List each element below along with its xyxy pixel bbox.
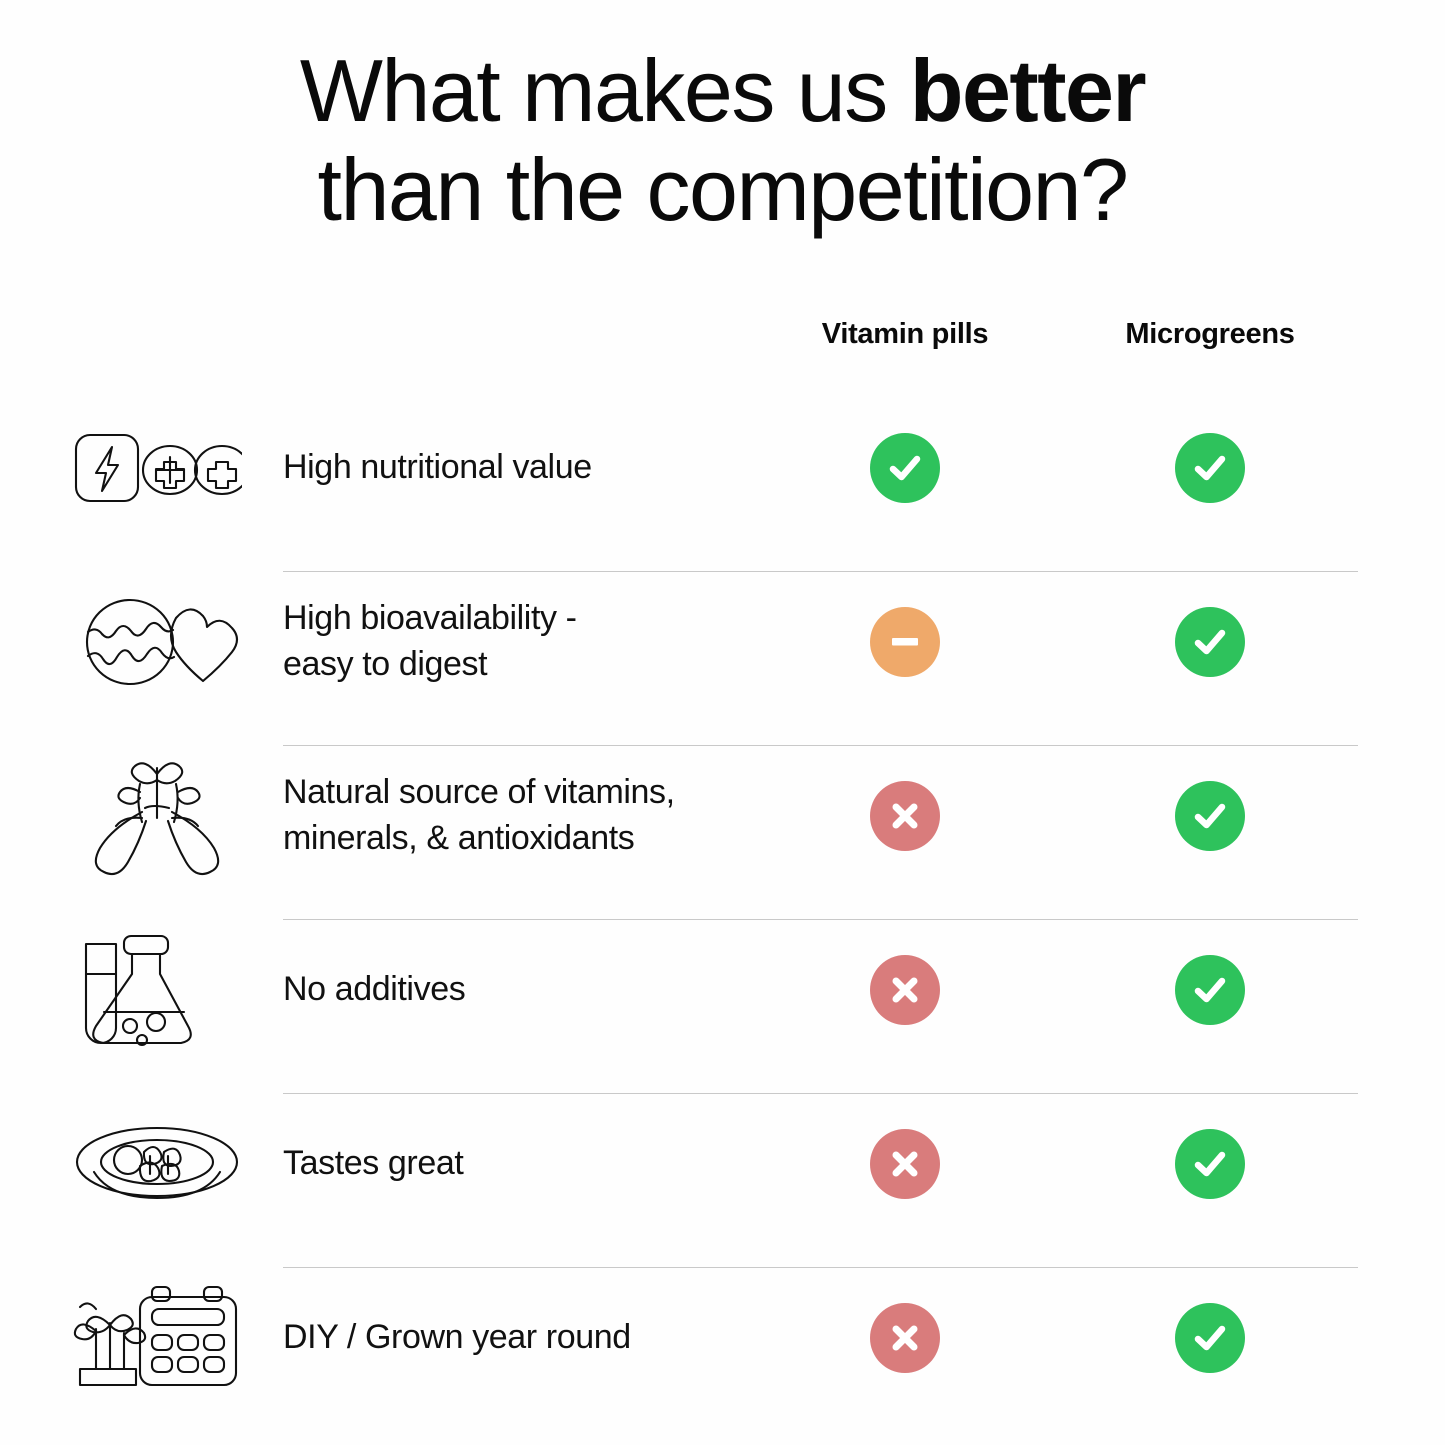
feature-label: Natural source of vitamins,minerals, & a…	[283, 746, 753, 886]
table-row: No additives	[0, 920, 1445, 1094]
check-mark-icon	[1175, 1303, 1245, 1373]
feature-label-text: DIY / Grown year round	[283, 1315, 631, 1361]
minus-mark-icon	[870, 607, 940, 677]
salad-plate-icon	[72, 1094, 252, 1234]
status-cell-vitamin_pills	[760, 746, 1050, 886]
table-row: Natural source of vitamins,minerals, & a…	[0, 746, 1445, 920]
page-title: What makes us better than the competitio…	[0, 42, 1445, 239]
status-cell-microgreens	[1060, 572, 1360, 712]
feature-label-line: Natural source of vitamins,	[283, 770, 675, 816]
sprouting-capsules-icon	[72, 746, 252, 886]
feature-label: High bioavailability -easy to digest	[283, 572, 753, 712]
table-row: High bioavailability -easy to digest	[0, 572, 1445, 746]
cross-mark-icon	[870, 1303, 940, 1373]
feature-label: DIY / Grown year round	[283, 1268, 753, 1408]
page-title-line-1: What makes us better	[0, 42, 1445, 141]
check-mark-icon	[1175, 955, 1245, 1025]
page-title-plain: What makes us	[300, 41, 910, 140]
feature-label-text: High nutritional value	[283, 445, 592, 491]
cross-mark-icon	[870, 1129, 940, 1199]
page-title-emphasis: better	[910, 41, 1146, 140]
feature-label-line: No additives	[283, 967, 465, 1013]
table-row-content: No additives	[0, 920, 1445, 1060]
status-cell-vitamin_pills	[760, 1268, 1050, 1408]
lightning-pills-icon	[72, 398, 252, 538]
feature-label-text: Natural source of vitamins,minerals, & a…	[283, 770, 675, 862]
comparison-chart-page: What makes us better than the competitio…	[0, 0, 1445, 1445]
table-row-content: DIY / Grown year round	[0, 1268, 1445, 1408]
status-cell-microgreens	[1060, 398, 1360, 538]
check-mark-icon	[1175, 607, 1245, 677]
sprouts-calendar-icon	[72, 1268, 252, 1408]
feature-label-line: Tastes great	[283, 1141, 463, 1187]
check-mark-icon	[870, 433, 940, 503]
cross-mark-icon	[870, 781, 940, 851]
table-row-content: High bioavailability -easy to digest	[0, 572, 1445, 712]
feature-label-line: High nutritional value	[283, 445, 592, 491]
flask-test-tube-icon	[72, 920, 252, 1060]
status-cell-vitamin_pills	[760, 1094, 1050, 1234]
cracked-egg-heart-icon	[72, 572, 252, 712]
column-header-vitamin-pills: Vitamin pills	[760, 318, 1050, 351]
page-title-line-2: than the competition?	[0, 141, 1445, 240]
status-cell-vitamin_pills	[760, 398, 1050, 538]
feature-label-text: Tastes great	[283, 1141, 463, 1187]
feature-label-text: High bioavailability -easy to digest	[283, 596, 577, 688]
table-row: High nutritional value	[0, 398, 1445, 572]
status-cell-microgreens	[1060, 1268, 1360, 1408]
column-header-microgreens: Microgreens	[1060, 318, 1360, 351]
check-mark-icon	[1175, 781, 1245, 851]
feature-label: No additives	[283, 920, 753, 1060]
table-column-headers: Vitamin pills Microgreens	[0, 318, 1445, 360]
table-row-content: Natural source of vitamins,minerals, & a…	[0, 746, 1445, 886]
cross-mark-icon	[870, 955, 940, 1025]
status-cell-vitamin_pills	[760, 920, 1050, 1060]
status-cell-vitamin_pills	[760, 572, 1050, 712]
table-row-content: Tastes great	[0, 1094, 1445, 1234]
status-cell-microgreens	[1060, 1094, 1360, 1234]
table-row: DIY / Grown year round	[0, 1268, 1445, 1442]
table-row: Tastes great	[0, 1094, 1445, 1268]
feature-label-line: High bioavailability -	[283, 596, 577, 642]
feature-label-line: DIY / Grown year round	[283, 1315, 631, 1361]
feature-label: Tastes great	[283, 1094, 753, 1234]
check-mark-icon	[1175, 1129, 1245, 1199]
status-cell-microgreens	[1060, 920, 1360, 1060]
check-mark-icon	[1175, 433, 1245, 503]
feature-label: High nutritional value	[283, 398, 753, 538]
table-row-content: High nutritional value	[0, 398, 1445, 538]
comparison-table-body: High nutritional value High bioavailabil…	[0, 398, 1445, 1442]
feature-label-line: easy to digest	[283, 642, 577, 688]
status-cell-microgreens	[1060, 746, 1360, 886]
feature-label-line: minerals, & antioxidants	[283, 816, 675, 862]
feature-label-text: No additives	[283, 967, 465, 1013]
